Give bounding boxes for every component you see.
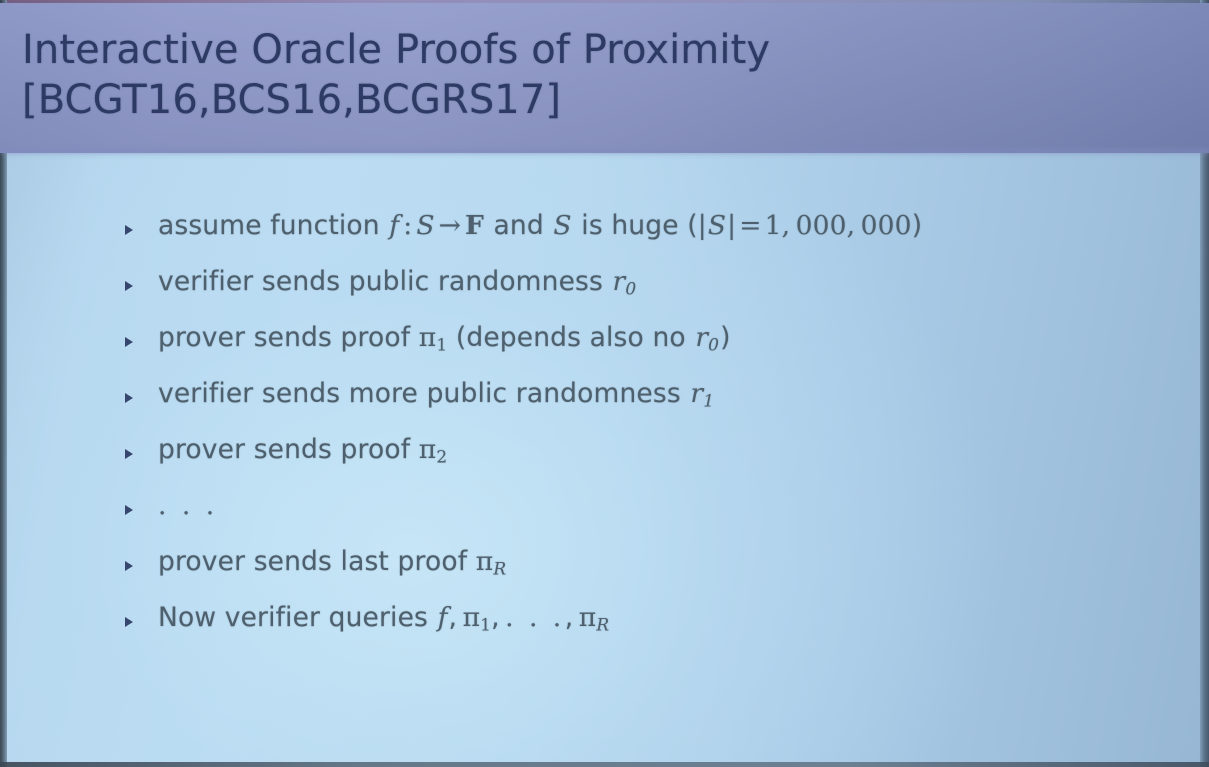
presentation-slide: Interactive Oracle Proofs of Proximity [… [0,0,1209,767]
bullet-1-ishuge: is huge ( [573,210,698,241]
bullet-text: Now verifier queries f, π1, . . ., πR [158,604,609,633]
bullet-text: prover sends proof π2 [158,436,447,465]
slide-title: Interactive Oracle Proofs of Proximity [… [22,25,1152,126]
bullet-8-words: Now verifier queries [158,602,437,633]
math-arrow: → [436,210,464,241]
slide-bullet-list: assume function f:S→F and S is huge (|S|… [124,212,1134,660]
bullet-prover-proof-pi1: prover sends proof π1 (depends also no r… [124,324,1134,380]
bullet-3-words: prover sends proof [158,322,419,353]
math-r0: r0 [612,266,638,297]
math-ellipsis: . . . [158,490,218,521]
bullet-3-close: ) [720,322,731,353]
math-field-F: F [464,210,485,241]
bullet-7-words: prover sends last proof [158,546,476,577]
bullet-text: verifier sends more public randomness r1 [158,380,715,409]
math-piR: πR [476,546,506,577]
bullet-verifier-randomness-r0: verifier sends public randomness r0 [124,268,1134,324]
triangle-right-bullet-icon [125,617,133,627]
bullet-prover-proof-pi2: prover sends proof π2 [124,436,1134,492]
bullet-8-c3: , [565,602,579,633]
triangle-right-bullet-icon [125,337,133,347]
triangle-right-bullet-icon [125,225,133,235]
math-f: f [388,210,400,241]
math-pi1-2: π1 [463,602,492,633]
screen-edge-bottom [0,762,1209,767]
math-cardinality: 1, 000, 000 [765,210,912,241]
math-pi1: π1 [419,322,448,353]
bullet-text: verifier sends public randomness r0 [158,268,637,297]
bullet-8-c2: , [491,602,505,633]
bullet-3-paren: (depends also no [447,322,694,353]
bullet-prover-last-proof-piR: prover sends last proof πR [124,548,1134,604]
bullet-1-close: ) [912,210,923,241]
bullet-verifier-queries: Now verifier queries f, π1, . . ., πR [124,604,1134,660]
triangle-right-bullet-icon [125,505,133,515]
bullet-5-words: prover sends proof [158,434,419,465]
bullet-text: prover sends proof π1 (depends also no r… [158,324,731,353]
bullet-assume-function: assume function f:S→F and S is huge (|S|… [124,212,1134,268]
bullet-text: prover sends last proof πR [158,548,506,577]
math-equals: = [736,210,764,241]
bullet-1-and: and [485,210,552,241]
bullet-2-words: verifier sends public randomness [158,266,612,297]
triangle-right-bullet-icon [125,561,133,571]
triangle-right-bullet-icon [125,281,133,291]
triangle-right-bullet-icon [125,449,133,459]
slide-title-band: Interactive Oracle Proofs of Proximity [… [0,3,1209,153]
math-colon: : [400,210,415,241]
bullet-1-words: assume function [158,210,388,241]
bullet-4-words: verifier sends more public randomness [158,378,689,409]
bullet-ellipsis: . . . [124,492,1134,548]
math-ellipsis-2: . . . [505,602,565,633]
math-S: S [415,210,435,241]
math-f-2: f [437,602,449,633]
bullet-text: assume function f:S→F and S is huge (|S|… [158,212,922,241]
math-piR-2: πR [579,602,609,633]
math-S-2: S [552,210,572,241]
math-r1: r1 [689,378,715,409]
bullet-8-c1: , [449,602,463,633]
math-abs-S: |S| [698,210,737,241]
bullet-text: . . . [158,492,218,521]
math-r0-2: r0 [694,322,720,353]
math-pi2: π2 [419,434,448,465]
bullet-verifier-randomness-r1: verifier sends more public randomness r1 [124,380,1134,436]
triangle-right-bullet-icon [125,393,133,403]
